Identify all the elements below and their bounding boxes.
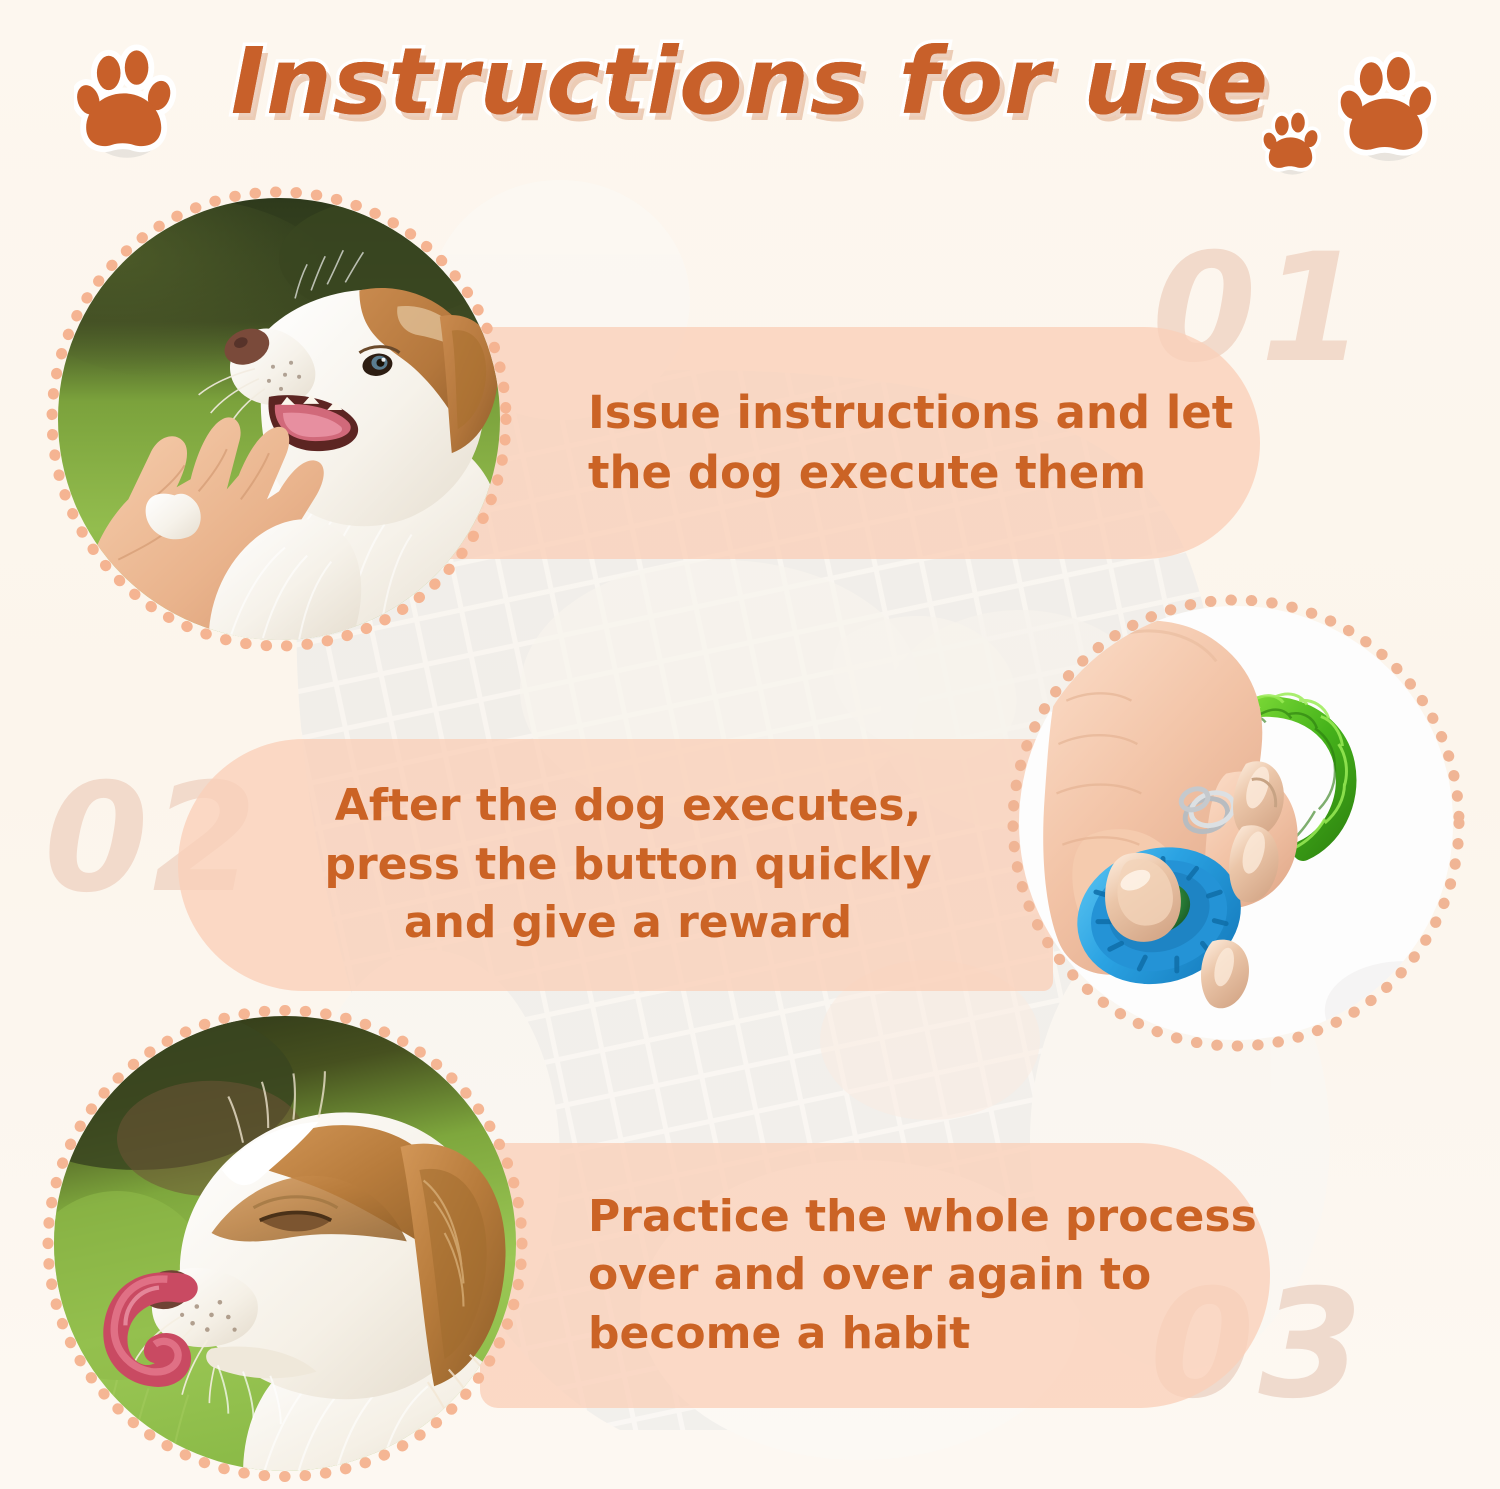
step-1-text: Issue instructions and let the dog execu… xyxy=(588,383,1233,503)
step-2-text-pill: After the dog executes, press the button… xyxy=(178,739,1053,991)
step-2-photo-circle xyxy=(1005,592,1467,1054)
dog-high-five-photo xyxy=(58,198,500,640)
dog-licking-nose-photo xyxy=(54,1016,516,1471)
step-3-photo-circle xyxy=(40,1002,530,1485)
instructions-poster: Instructions for use Instructions for us… xyxy=(0,0,1500,1489)
step-1-photo-circle xyxy=(44,184,514,654)
paw-print-icon xyxy=(1262,108,1324,178)
header: Instructions for use Instructions for us… xyxy=(0,0,1500,185)
step-2-text: After the dog executes, press the button… xyxy=(298,777,958,953)
step-3-text-pill: Practice the whole process over and over… xyxy=(480,1143,1270,1408)
step-3-text: Practice the whole process over and over… xyxy=(588,1188,1257,1364)
paw-print-icon xyxy=(1338,50,1442,166)
hand-pressing-clicker-photo xyxy=(1019,606,1453,1040)
